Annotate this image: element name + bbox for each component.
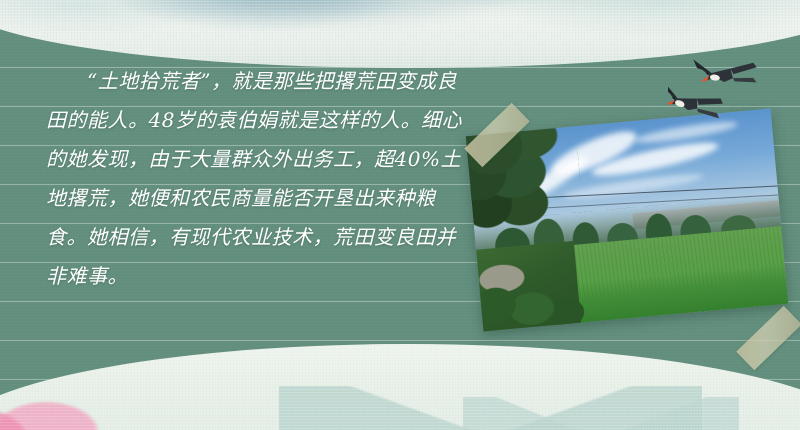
- photo-shrubs: [472, 266, 605, 332]
- rice-paddy-field-photo[interactable]: [466, 109, 789, 332]
- swallow-icon-lower: [668, 76, 726, 122]
- photo-image: [466, 109, 789, 332]
- poster-canvas: “土地拾荒者”，就是那些把撂荒田变成良田的能人。48岁的袁伯娟就是这样的人。细心…: [0, 0, 800, 430]
- watercolor-landscape-band: [0, 344, 800, 430]
- article-body-text: “土地拾荒者”，就是那些把撂荒田变成良田的能人。48岁的袁伯娟就是这样的人。细心…: [46, 62, 466, 296]
- ruled-line: [0, 340, 800, 341]
- swallow-birds: [668, 52, 788, 122]
- paper-grain-bottom: [0, 344, 800, 430]
- swallow-icon-upper: [690, 54, 759, 89]
